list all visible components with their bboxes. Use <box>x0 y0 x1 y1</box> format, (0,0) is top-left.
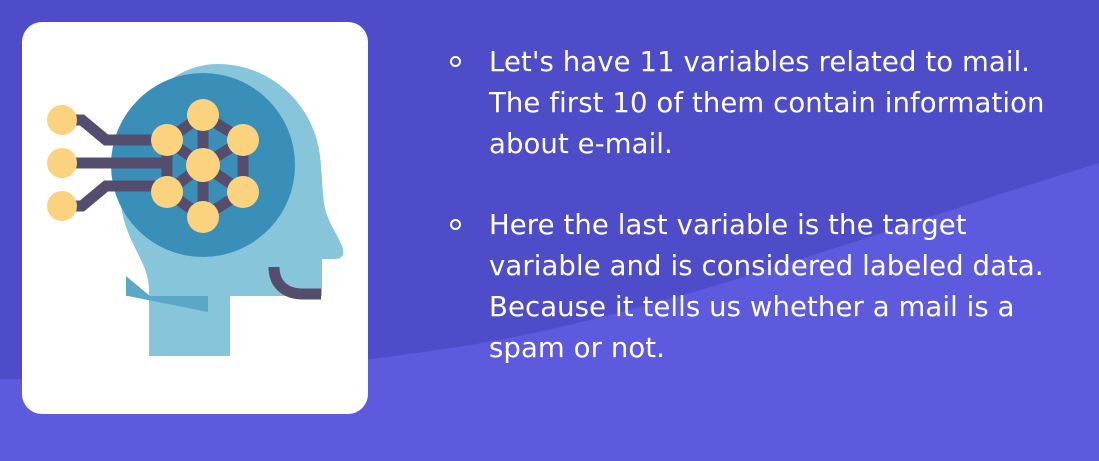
hidden-node-bottom <box>187 201 219 233</box>
hidden-node-left-upper <box>151 124 183 156</box>
ai-brain-head-illustration <box>22 22 368 414</box>
list-item: Here the last variable is the target var… <box>450 205 1078 369</box>
hidden-node-center <box>186 148 220 182</box>
illustration-card <box>22 22 368 414</box>
input-node-3 <box>47 191 77 221</box>
input-node-2 <box>47 148 77 178</box>
neck-shadow-shape <box>126 276 150 296</box>
list-item: Let's have 11 variables related to mail.… <box>450 42 1078 165</box>
hidden-node-right-upper <box>227 124 259 156</box>
hidden-node-top <box>187 99 219 131</box>
bullet-list: Let's have 11 variables related to mail.… <box>450 42 1078 369</box>
circle-outline-bullet-icon <box>450 56 461 67</box>
bullet-text: Here the last variable is the target var… <box>489 205 1078 369</box>
slide: Let's have 11 variables related to mail.… <box>0 0 1099 461</box>
hidden-node-right-lower <box>227 176 259 208</box>
bullet-text: Let's have 11 variables related to mail.… <box>489 42 1078 165</box>
hidden-node-left-lower <box>151 176 183 208</box>
circle-outline-bullet-icon <box>450 219 461 230</box>
input-node-1 <box>47 105 77 135</box>
